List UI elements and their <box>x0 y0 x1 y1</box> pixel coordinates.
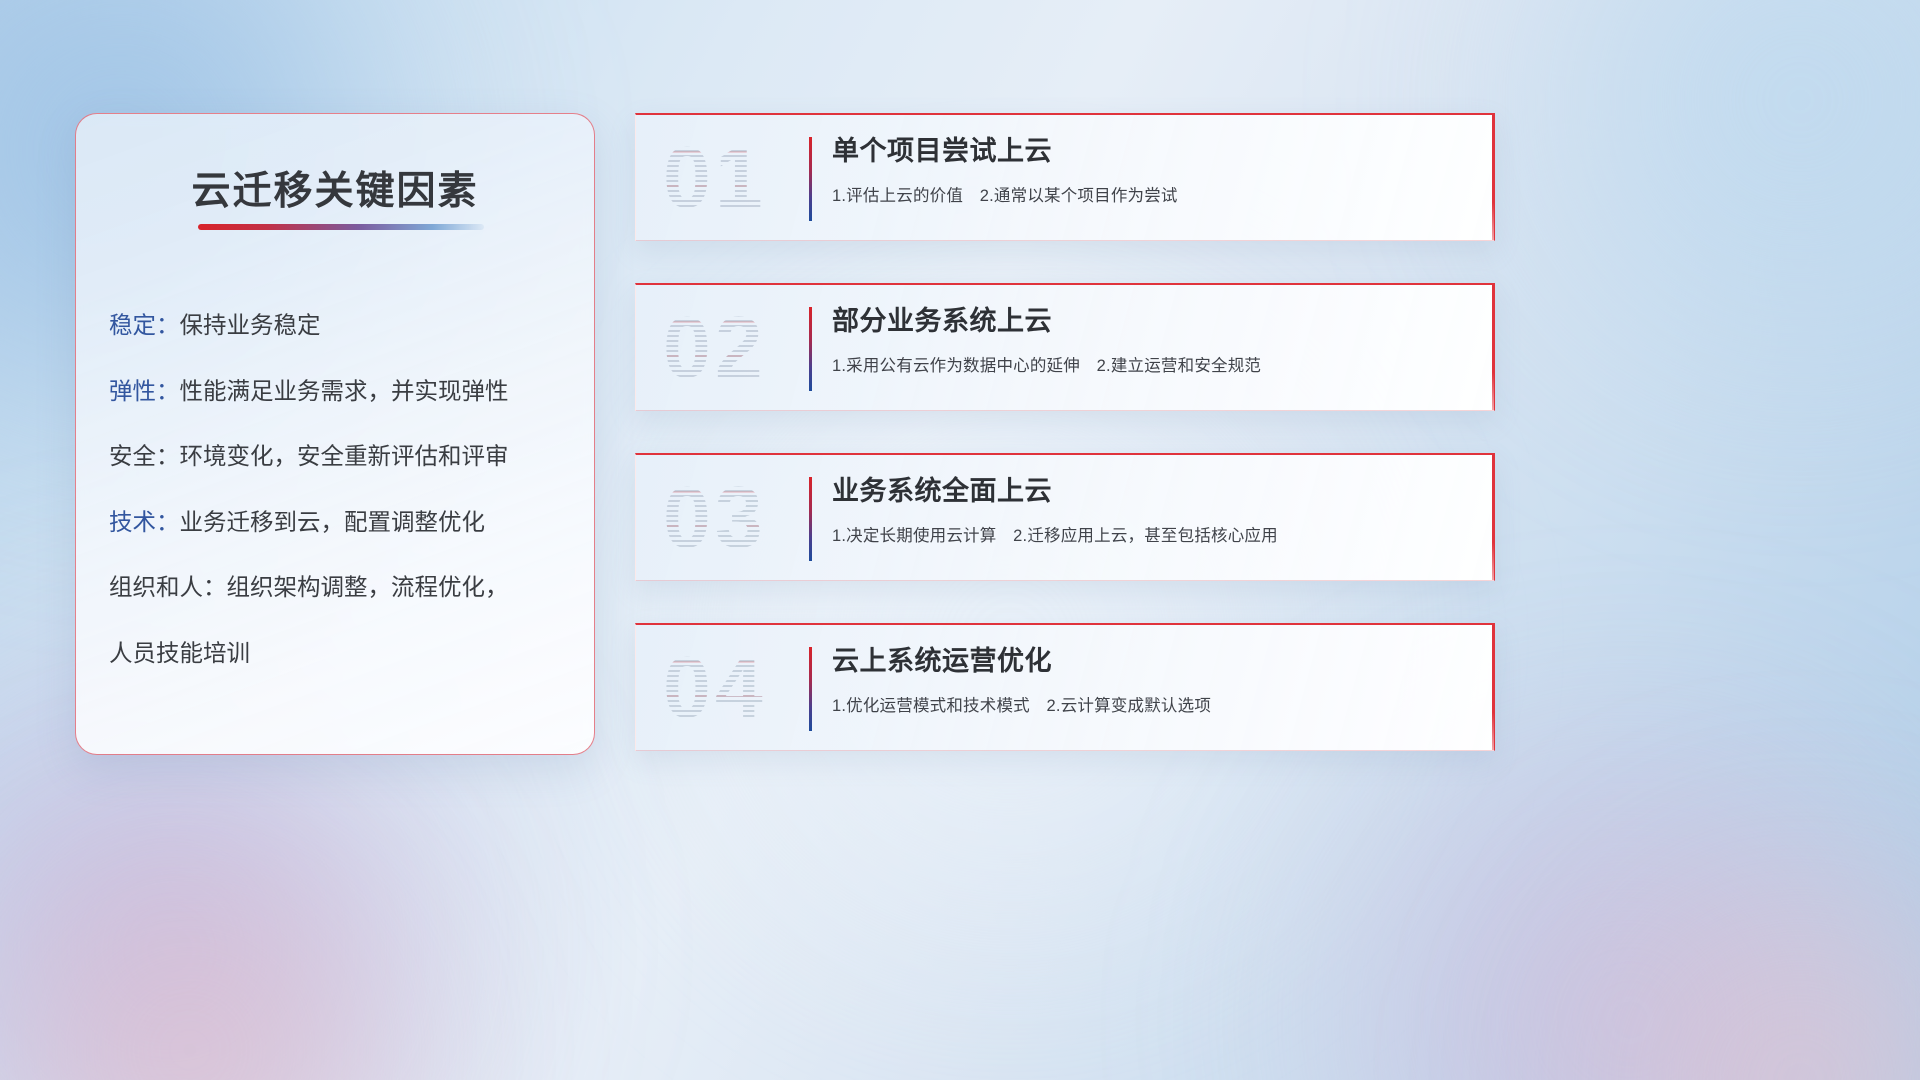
factor-row: 安全：环境变化，安全重新评估和评审 <box>109 445 578 469</box>
step-body: 单个项目尝试上云1.评估上云的价值 2.通常以某个项目作为尝试 <box>832 135 1470 206</box>
factor-text: 环境变化，安全重新评估和评审 <box>180 443 509 469</box>
step-title: 单个项目尝试上云 <box>832 135 1470 169</box>
factor-text: 人员技能培训 <box>109 640 250 666</box>
step-card[interactable]: 0404云上系统运营优化1.优化运营模式和技术模式 2.云计算变成默认选项 <box>635 623 1495 751</box>
factor-row: 组织和人：组织架构调整，流程优化， <box>109 576 578 600</box>
factor-label: 安全： <box>109 443 180 469</box>
title-underline-accent <box>198 224 484 230</box>
step-card[interactable]: 0101单个项目尝试上云1.评估上云的价值 2.通常以某个项目作为尝试 <box>635 113 1495 241</box>
factor-list: 稳定：保持业务稳定弹性：性能满足业务需求，并实现弹性安全：环境变化，安全重新评估… <box>109 314 578 665</box>
key-factors-panel: 云迁移关键因素 稳定：保持业务稳定弹性：性能满足业务需求，并实现弹性安全：环境变… <box>75 113 595 755</box>
factor-row: 弹性：性能满足业务需求，并实现弹性 <box>109 380 578 404</box>
step-divider-bar <box>809 137 812 221</box>
step-divider-bar <box>809 477 812 561</box>
step-number-tint: 02 <box>663 305 767 391</box>
step-description: 1.决定长期使用云计算 2.迁移应用上云，甚至包括核心应用 <box>832 522 1470 546</box>
factor-text: 组织架构调整，流程优化， <box>227 574 509 600</box>
factor-label: 技术： <box>109 509 180 535</box>
step-divider-bar <box>809 307 812 391</box>
step-body: 云上系统运营优化1.优化运营模式和技术模式 2.云计算变成默认选项 <box>832 645 1470 716</box>
step-divider-bar <box>809 647 812 731</box>
factor-label: 组织和人： <box>109 574 227 600</box>
step-title: 业务系统全面上云 <box>832 475 1470 509</box>
step-number-tint: 04 <box>663 645 767 731</box>
factor-text: 保持业务稳定 <box>180 312 321 338</box>
step-number-tint: 03 <box>663 475 767 561</box>
step-description: 1.优化运营模式和技术模式 2.云计算变成默认选项 <box>832 692 1470 716</box>
step-card[interactable]: 0202部分业务系统上云1.采用公有云作为数据中心的延伸 2.建立运营和安全规范 <box>635 283 1495 411</box>
factor-text: 业务迁移到云，配置调整优化 <box>180 509 486 535</box>
factor-label: 弹性： <box>109 378 180 404</box>
step-title: 部分业务系统上云 <box>832 305 1470 339</box>
step-title: 云上系统运营优化 <box>832 645 1470 679</box>
step-number-tint: 01 <box>663 135 767 221</box>
step-body: 业务系统全面上云1.决定长期使用云计算 2.迁移应用上云，甚至包括核心应用 <box>832 475 1470 546</box>
factor-text: 性能满足业务需求，并实现弹性 <box>180 378 509 404</box>
step-card[interactable]: 0303业务系统全面上云1.决定长期使用云计算 2.迁移应用上云，甚至包括核心应… <box>635 453 1495 581</box>
factor-row: 人员技能培训 <box>109 642 578 666</box>
page-title: 云迁移关键因素 <box>76 160 594 216</box>
step-description: 1.评估上云的价值 2.通常以某个项目作为尝试 <box>832 182 1470 206</box>
step-body: 部分业务系统上云1.采用公有云作为数据中心的延伸 2.建立运营和安全规范 <box>832 305 1470 376</box>
factor-label: 稳定： <box>109 312 180 338</box>
step-description: 1.采用公有云作为数据中心的延伸 2.建立运营和安全规范 <box>832 352 1470 376</box>
factor-row: 技术：业务迁移到云，配置调整优化 <box>109 511 578 535</box>
migration-steps-list: 0101单个项目尝试上云1.评估上云的价值 2.通常以某个项目作为尝试0202部… <box>635 113 1495 751</box>
factor-row: 稳定：保持业务稳定 <box>109 314 578 338</box>
